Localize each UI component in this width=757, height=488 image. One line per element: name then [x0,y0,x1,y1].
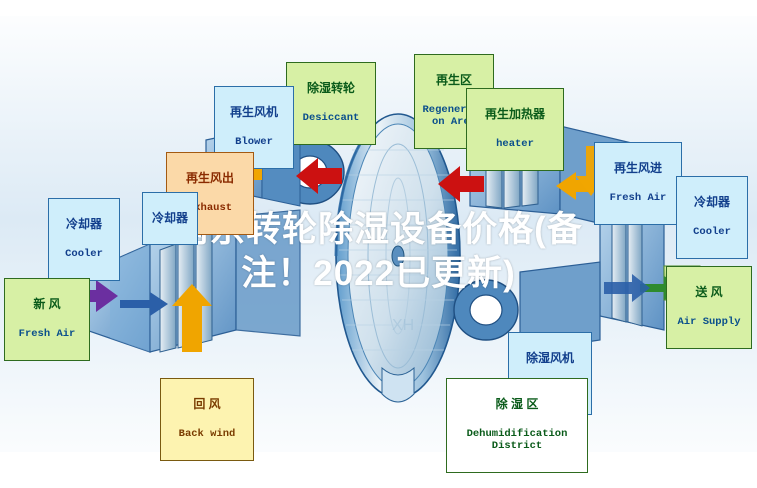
label-air-supply-en: Air Supply [670,317,748,329]
label-desiccant-wheel-cn: 除湿转轮 [290,82,372,95]
label-air-supply: 送 风 Air Supply [666,266,752,349]
label-regeneration-area-cn: 再生区 [418,74,490,87]
diagram-canvas: XH 南京转轮除湿设备价格(备 注！2022已更新) 除湿转轮 Desiccan… [0,0,757,488]
label-regeneration-blower-en: Blower [218,137,290,149]
label-regeneration-fresh-air: 再生风进 Fresh Air [594,142,682,225]
label-cooler-right-en: Cooler [680,227,744,239]
label-back-wind: 回 风 Back wind [160,378,254,461]
svg-text:XH: XH [392,317,414,334]
label-regeneration-heater: 再生加热器 heater [466,88,564,171]
label-cooler-left-cn: 冷却器 [52,218,116,231]
label-dehumidification-zone: 除 湿 区 Dehumidification District [446,378,588,473]
label-regeneration-fresh-air-en: Fresh Air [598,193,678,205]
label-fresh-air-inlet-en: Fresh Air [8,329,86,341]
label-regeneration-heater-en: heater [470,139,560,151]
label-cooler-right-cn: 冷却器 [680,196,744,209]
label-air-supply-cn: 送 风 [670,286,748,299]
label-dehumidification-zone-en: Dehumidification District [450,429,584,453]
label-fresh-air-inlet-cn: 新 风 [8,298,86,311]
label-dehumidification-blower-cn: 除湿风机 [512,352,588,365]
label-regeneration-blower-cn: 再生风机 [218,106,290,119]
label-regeneration-heater-cn: 再生加热器 [470,108,560,121]
label-desiccant-wheel: 除湿转轮 Desiccant [286,62,376,145]
label-dehumidification-zone-cn: 除 湿 区 [450,398,584,411]
label-back-wind-cn: 回 风 [164,398,250,411]
label-cooler-mid: 冷却器 [142,192,198,245]
label-cooler-left: 冷却器 Cooler [48,198,120,281]
label-regeneration-fresh-air-cn: 再生风进 [598,162,678,175]
label-fresh-air-inlet: 新 风 Fresh Air [4,278,90,361]
label-back-wind-en: Back wind [164,429,250,441]
label-cooler-right: 冷却器 Cooler [676,176,748,259]
label-regeneration-exhaust-cn: 再生风出 [170,172,250,185]
label-cooler-mid-cn: 冷却器 [146,212,194,225]
label-cooler-left-en: Cooler [52,249,116,261]
label-desiccant-wheel-en: Desiccant [290,113,372,125]
